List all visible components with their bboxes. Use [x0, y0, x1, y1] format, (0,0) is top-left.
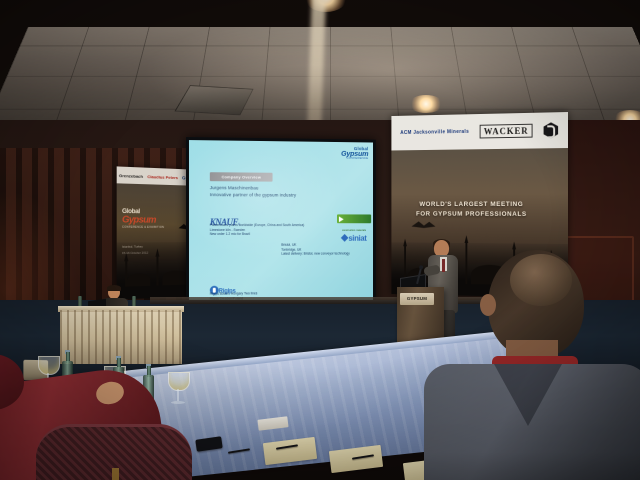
- sponsor-hex-icon: [544, 122, 559, 138]
- head-table-skirt: [60, 310, 182, 364]
- sponsor-logo-wacker: WACKER: [480, 124, 532, 139]
- backdrop-headline-line2: FOR GYPSUM PROFESSIONALS: [416, 210, 527, 220]
- slide-subtitle-line1: Jurgens Maschinenbau: [210, 185, 259, 190]
- lafarge-mark: [337, 214, 371, 223]
- attendee-right-ear: [480, 294, 496, 316]
- lafarge-note-3: Latest delivery: Bristol, new conveyor t…: [281, 252, 349, 257]
- left-banner-title-line3: CONFERENCE & EXHIBITION: [122, 224, 164, 231]
- slide-title: Company Overview: [210, 172, 273, 181]
- podium-sign: GYPSUM: [400, 293, 434, 305]
- sponsor-logo-acm: ACM Jacksonville Minerals: [400, 129, 469, 136]
- backdrop-sponsor-strip: ACM Jacksonville Minerals WACKER: [391, 112, 568, 150]
- backdrop-headline-line1: WORLD'S LARGEST MEETING: [416, 200, 527, 210]
- podium-sign-text: GYPSUM: [400, 293, 434, 305]
- knauf-note-1: Plasterboard plants worldwide (Europe, C…: [210, 223, 305, 228]
- conference-hall-photo: ACM Jacksonville Minerals WACKER WORLD'S…: [0, 0, 640, 480]
- lafarge-notes: Bristol, UK Tonbridge, UK Latest deliver…: [281, 243, 349, 257]
- siniat-diamond-icon: [341, 234, 349, 242]
- head-table: [60, 310, 182, 364]
- slide-brand-logo: Global Gypsum CONFERENCE: [341, 146, 368, 161]
- panelist-hair: [107, 285, 121, 291]
- attendee-right-scalp: [510, 254, 572, 306]
- attendee-right-lapel: [494, 364, 562, 426]
- ceiling-downlight: [409, 95, 443, 113]
- knauf-notes: Plasterboard plants worldwide (Europe, C…: [210, 223, 305, 237]
- slide-subtitle-line2: Innovative partner of the gypsum industr…: [210, 192, 296, 197]
- bird-silhouette-icon: [411, 221, 435, 230]
- sponsor-logo-grenzebach: Grenzebach: [119, 172, 143, 178]
- knauf-note-3: New order 1.2 mio for Brazil: [210, 232, 305, 237]
- sponsor-logo-claudius-peters: Claudius Peters: [147, 173, 178, 179]
- foreground-attendee-right: [432, 236, 640, 480]
- slide-title-bar: Company Overview: [210, 172, 273, 181]
- backdrop-headline: WORLD'S LARGEST MEETING FOR GYPSUM PROFE…: [416, 200, 527, 220]
- left-banner-title: Global Gypsum CONFERENCE & EXHIBITION: [122, 209, 164, 231]
- chair-leg: [112, 468, 119, 480]
- siniat-wordmark: siniat: [348, 234, 366, 243]
